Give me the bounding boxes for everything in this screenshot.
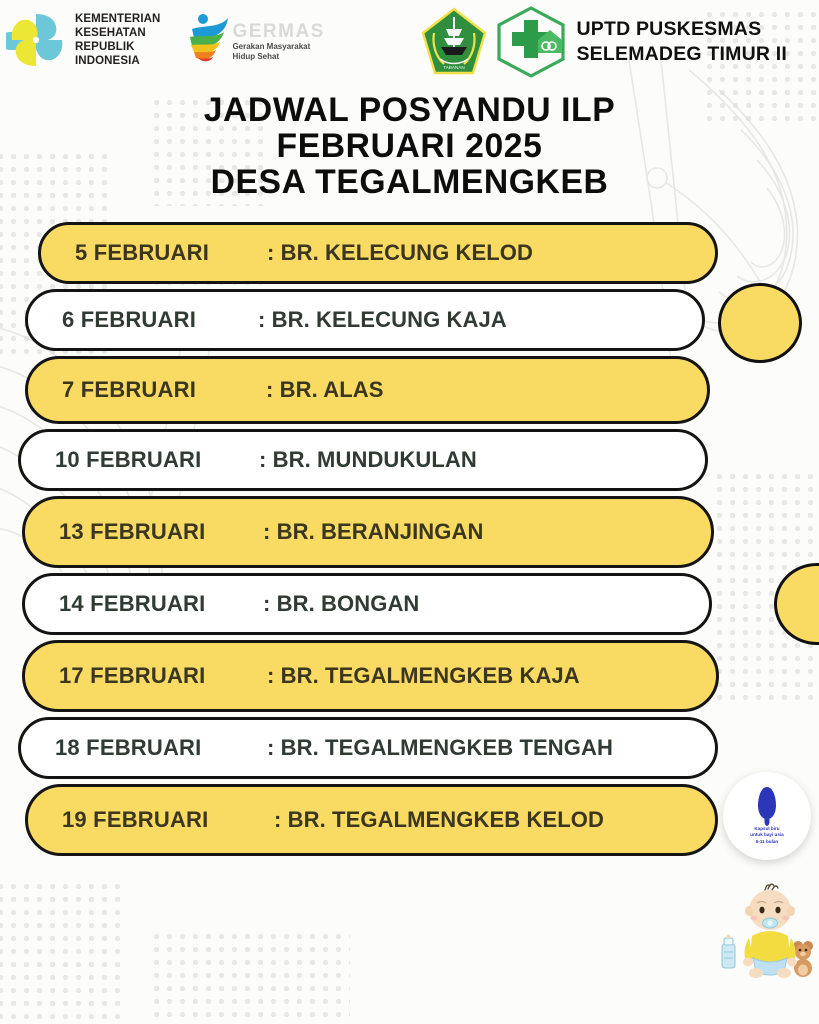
poster-canvas: KEMENTERIAN KESEHATAN REPUBLIK INDONESIA… — [0, 0, 819, 1024]
poster-header: KEMENTERIAN KESEHATAN REPUBLIK INDONESIA… — [0, 0, 819, 86]
schedule-row: 7 FEBRUARI : BR. ALAS — [25, 356, 710, 424]
kemenkes-logo-block: KEMENTERIAN KESEHATAN REPUBLIK INDONESIA — [6, 10, 160, 70]
schedule-row: 14 FEBRUARI : BR. BONGAN — [22, 573, 712, 635]
schedule-place: : BR. TEGALMENGKEB KAJA — [267, 663, 580, 689]
schedule-date: 7 FEBRUARI — [62, 377, 258, 403]
baby-figure — [743, 884, 797, 978]
puskesmas-logo-block: TABANAN UPTD PUSKESMAS SELEMADEG TIMUR I… — [420, 6, 805, 78]
poster-title: JADWAL POSYANDU ILP FEBRUARI 2025 DESA T… — [0, 92, 819, 200]
kemenkes-label: KEMENTERIAN KESEHATAN REPUBLIK INDONESIA — [75, 12, 160, 68]
capsule-caption: Kapsul biru untuk bayi usia 6-11 bulan — [750, 826, 783, 845]
schedule-date: 10 FEBRUARI — [55, 447, 251, 473]
schedule-date: 6 FEBRUARI — [62, 307, 250, 333]
vitamin-capsule-badge: Kapsul biru untuk bayi usia 6-11 bulan — [723, 772, 811, 860]
puskesmas-hexagon-cross-icon — [494, 6, 568, 78]
schedule-row: 6 FEBRUARI : BR. KELECUNG KAJA — [25, 289, 705, 351]
schedule-date: 14 FEBRUARI — [59, 591, 255, 617]
puskesmas-name-label: UPTD PUSKESMAS SELEMADEG TIMUR II — [576, 17, 787, 67]
background-dot-pattern — [150, 930, 350, 1024]
germas-tagline: Gerakan Masyarakat Hidup Sehat — [232, 42, 324, 61]
germas-wordmark: GERMAS — [232, 22, 324, 41]
svg-text:TABANAN: TABANAN — [444, 65, 465, 70]
schedule-date: 19 FEBRUARI — [62, 807, 266, 833]
germas-text-block: GERMAS Gerakan Masyarakat Hidup Sehat — [232, 22, 324, 61]
schedule-row: 19 FEBRUARI : BR. TEGALMENGKEB KELOD — [25, 784, 718, 856]
schedule-place: : BR. TEGALMENGKEB KELOD — [274, 807, 604, 833]
title-line-1: JADWAL POSYANDU ILP — [44, 92, 776, 128]
schedule-place: : BR. KELECUNG KAJA — [258, 307, 507, 333]
schedule-place: : BR. ALAS — [266, 377, 384, 403]
schedule-date: 18 FEBRUARI — [55, 735, 259, 761]
tabanan-regency-emblem-icon: TABANAN — [420, 7, 488, 77]
teddy-bear-icon — [793, 941, 813, 977]
background-dot-pattern — [0, 880, 124, 1024]
schedule-date: 5 FEBRUARI — [75, 240, 259, 266]
schedule-row: 10 FEBRUARI : BR. MUNDUKULAN — [18, 429, 708, 491]
title-line-3: DESA TEGALMENGKEB — [44, 164, 776, 200]
schedule-row: 13 FEBRUARI : BR. BERANJINGAN — [22, 496, 714, 568]
baby-with-bottle-and-teddy-illustration — [718, 878, 818, 982]
blue-vitamin-capsule-icon — [758, 787, 776, 819]
schedule-row: 17 FEBRUARI : BR. TEGALMENGKEB KAJA — [22, 640, 719, 712]
baby-bottle-icon — [722, 935, 735, 969]
schedule-place: : BR. KELECUNG KELOD — [267, 240, 533, 266]
schedule-list: 5 FEBRUARI : BR. KELECUNG KELOD 6 FEBRUA… — [0, 222, 819, 856]
kemenkes-logo-icon — [6, 10, 68, 70]
schedule-row: 18 FEBRUARI : BR. TEGALMENGKEB TENGAH — [18, 717, 718, 779]
schedule-row: 5 FEBRUARI : BR. KELECUNG KELOD — [38, 222, 718, 284]
germas-logo-block: GERMAS Gerakan Masyarakat Hidup Sehat — [186, 12, 324, 62]
schedule-place: : BR. BERANJINGAN — [263, 519, 484, 545]
schedule-date: 17 FEBRUARI — [59, 663, 259, 689]
germas-logo-icon — [186, 12, 230, 62]
title-line-2: FEBRUARI 2025 — [44, 128, 776, 164]
schedule-place: : BR. BONGAN — [263, 591, 419, 617]
schedule-place: : BR. TEGALMENGKEB TENGAH — [267, 735, 613, 761]
schedule-place: : BR. MUNDUKULAN — [259, 447, 477, 473]
schedule-date: 13 FEBRUARI — [59, 519, 255, 545]
